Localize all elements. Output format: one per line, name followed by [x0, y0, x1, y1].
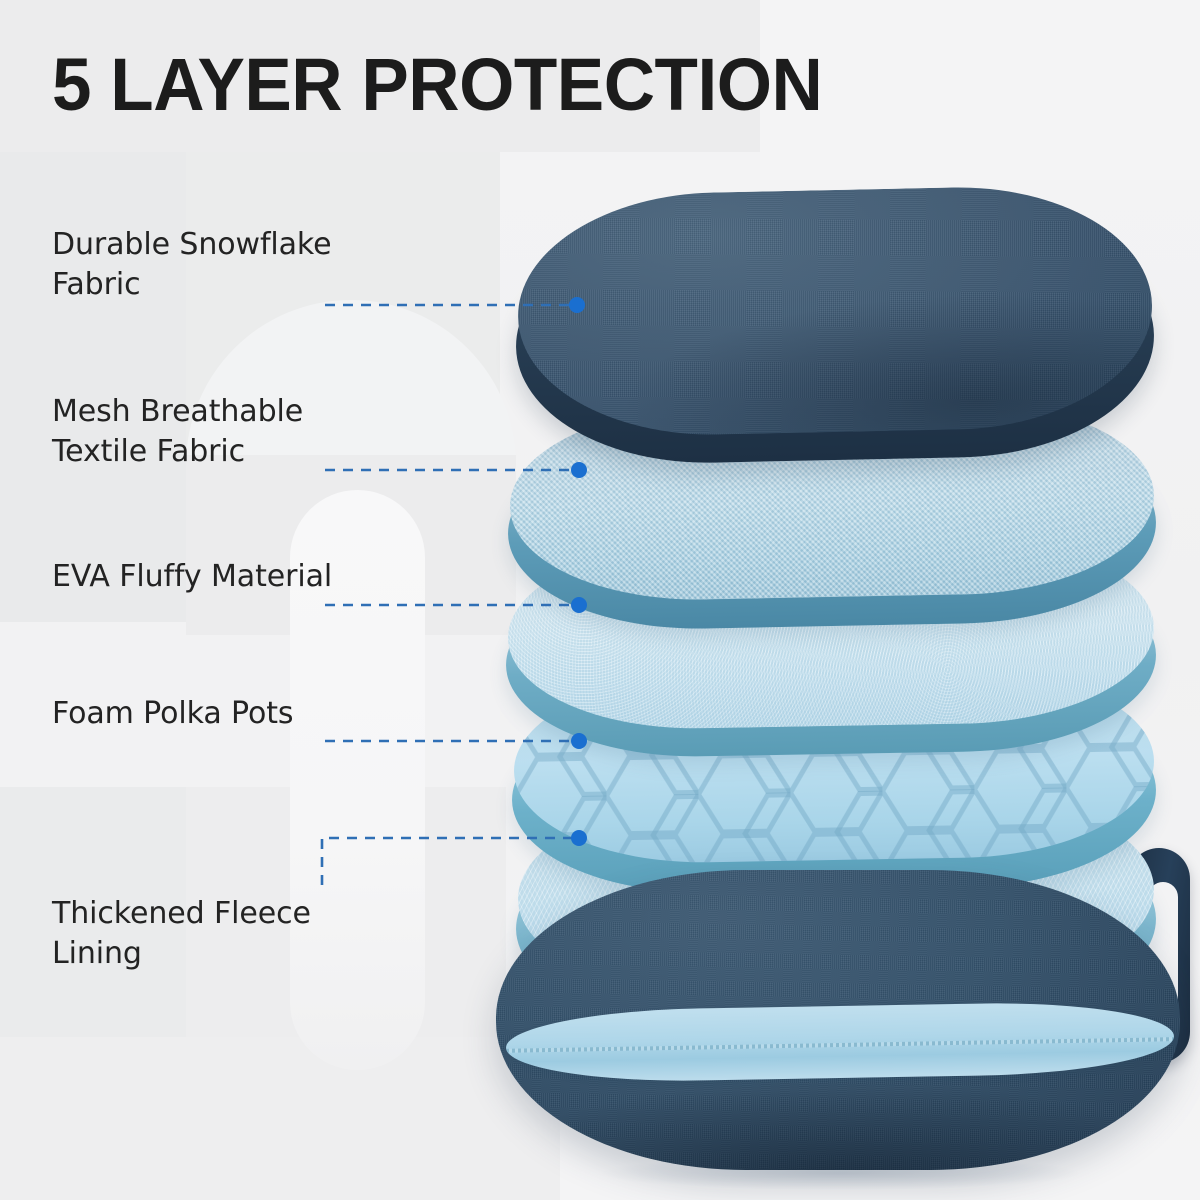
infographic-canvas: 5 LAYER PROTECTION Durable Snowflake Fab… [0, 0, 1200, 1200]
layer-label-mesh-breathable-textile-fabric: Mesh Breathable Textile Fabric [52, 392, 303, 472]
layer-label-foam-polka-pots: Foam Polka Pots [52, 694, 293, 734]
layer-1-durable-snowflake-fabric [516, 183, 1155, 438]
layer-label-durable-snowflake-fabric: Durable Snowflake Fabric [52, 225, 332, 305]
page-title: 5 LAYER PROTECTION [52, 48, 822, 122]
cushion-layer-stack [0, 0, 1200, 1200]
layer-label-thickened-fleece-lining: Thickened Fleece Lining [52, 894, 311, 974]
layer-label-eva-fluffy-material: EVA Fluffy Material [52, 557, 332, 597]
